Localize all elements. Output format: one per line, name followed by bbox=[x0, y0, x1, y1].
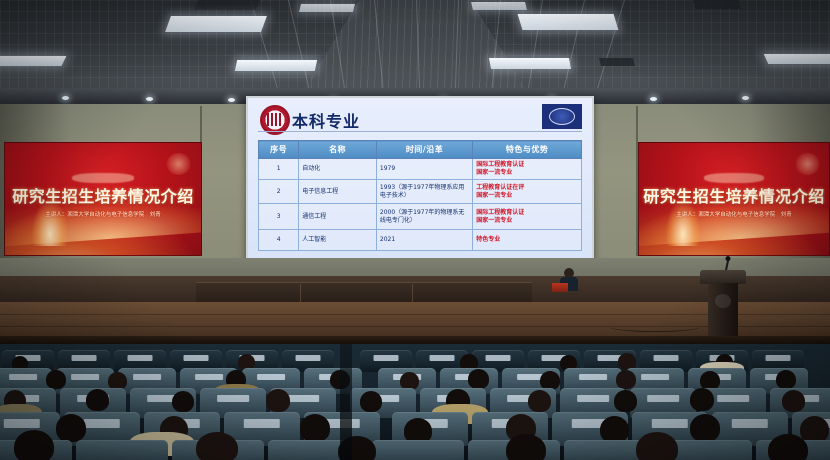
ceiling-light bbox=[489, 58, 571, 69]
majors-table: 序号 名称 时间/沿革 特色与优势 1 自动化 1979 国际工程教育认证 国家… bbox=[258, 140, 582, 251]
banner-right: 研究生招生培养情况介绍 主讲人：湘潭大学自动化与电子信息学院 刘青 bbox=[638, 142, 830, 256]
slide-title: 本科专业 bbox=[292, 108, 360, 132]
downlight bbox=[650, 97, 657, 101]
ceiling-vent bbox=[693, 0, 742, 9]
audience-head bbox=[636, 432, 678, 460]
audience-head bbox=[46, 370, 66, 389]
downlight bbox=[742, 96, 749, 100]
cell-history: 2021 bbox=[376, 230, 472, 251]
banner-left-subtitle: 主讲人：湘潭大学自动化与电子信息学院 刘青 bbox=[9, 210, 197, 218]
audience-head bbox=[600, 416, 629, 443]
audience-head bbox=[196, 432, 238, 460]
wooden-podium bbox=[700, 270, 746, 336]
cell-features: 工程教育认证在评 国家一流专业 bbox=[473, 180, 582, 204]
ceiling-vent bbox=[194, 0, 260, 10]
cell-name: 电子信息工程 bbox=[299, 180, 377, 204]
cell-history: 2000（源于1977年的物理系无线电专门化） bbox=[376, 204, 472, 230]
audience-head bbox=[800, 416, 829, 443]
ceiling-light bbox=[165, 16, 267, 32]
microphone-cable bbox=[610, 322, 700, 332]
banner-ribbon bbox=[72, 173, 135, 183]
table-row: 4 人工智能 2021 特色专业 bbox=[259, 230, 582, 251]
audience-head bbox=[616, 370, 636, 389]
audience-head bbox=[468, 369, 489, 389]
col-features: 特色与优势 bbox=[473, 141, 582, 159]
table-row: 3 通信工程 2000（源于1977年的物理系无线电专门化） 国际工程教育认证 … bbox=[259, 204, 582, 230]
audience-head bbox=[360, 391, 382, 412]
audience-head bbox=[690, 414, 720, 442]
audience-head bbox=[14, 430, 54, 460]
cell-features: 国际工程教育认证 国家一流专业 bbox=[473, 159, 582, 180]
col-no: 序号 bbox=[259, 141, 299, 159]
cell-features: 国际工程教育认证 国家一流专业 bbox=[473, 204, 582, 230]
banner-ribbon bbox=[704, 173, 765, 183]
cell-history: 1993（源于1977年物理系应用电子技术） bbox=[376, 180, 472, 204]
cell-history: 1979 bbox=[376, 159, 472, 180]
downlight bbox=[146, 97, 153, 101]
laptop bbox=[552, 283, 568, 292]
cell-no: 3 bbox=[259, 204, 299, 230]
ceiling-light bbox=[518, 14, 619, 30]
downlight bbox=[228, 98, 235, 102]
table-header-row: 序号 名称 时间/沿革 特色与优势 bbox=[259, 141, 582, 159]
banner-seal-icon bbox=[166, 153, 191, 175]
ceiling-light bbox=[764, 54, 830, 64]
audience-seating bbox=[0, 344, 830, 460]
ceiling-light bbox=[0, 56, 66, 66]
banner-seal-icon bbox=[795, 153, 820, 175]
ceiling-light bbox=[471, 2, 527, 10]
col-name: 名称 bbox=[299, 141, 377, 159]
audience-head bbox=[56, 414, 86, 442]
audience-head bbox=[768, 434, 808, 460]
lecture-hall-scene: 研究生招生培养情况介绍 主讲人：湘潭大学自动化与电子信息学院 刘青 研究生招生培… bbox=[0, 0, 830, 460]
audience-head bbox=[776, 370, 796, 389]
audience-head bbox=[528, 390, 551, 412]
cell-name: 人工智能 bbox=[299, 230, 377, 251]
podium-emblem-icon bbox=[715, 294, 731, 308]
audience-head bbox=[782, 390, 805, 412]
banner-right-title: 研究生招生培养情况介绍 bbox=[643, 183, 825, 207]
audience-head bbox=[172, 391, 194, 412]
podium-body bbox=[708, 283, 738, 336]
cell-no: 4 bbox=[259, 230, 299, 251]
cell-no: 2 bbox=[259, 180, 299, 204]
podium-top bbox=[700, 270, 746, 284]
audience-head bbox=[690, 388, 714, 411]
downlight bbox=[62, 96, 69, 100]
school-logo-icon bbox=[542, 104, 582, 129]
ceiling-vent bbox=[599, 58, 635, 66]
audience-head bbox=[266, 389, 290, 412]
cell-features: 特色专业 bbox=[473, 230, 582, 251]
audience-head bbox=[614, 390, 637, 412]
cell-no: 1 bbox=[259, 159, 299, 180]
ceiling-light bbox=[235, 60, 317, 71]
table-row: 2 电子信息工程 1993（源于1977年物理系应用电子技术） 工程教育认证在评… bbox=[259, 180, 582, 204]
ceiling bbox=[0, 0, 830, 104]
audience-head bbox=[506, 434, 546, 460]
banner-right-subtitle: 主讲人：湘潭大学自动化与电子信息学院 刘青 bbox=[643, 210, 825, 218]
slide-title-divider bbox=[258, 131, 582, 132]
banner-left-title: 研究生招生培养情况介绍 bbox=[9, 183, 197, 207]
audience-head bbox=[86, 389, 109, 411]
cell-name: 自动化 bbox=[299, 159, 377, 180]
cell-name: 通信工程 bbox=[299, 204, 377, 230]
seat bbox=[372, 440, 464, 460]
col-history: 时间/沿革 bbox=[376, 141, 472, 159]
aisle bbox=[340, 344, 352, 460]
presentation-slide: 本科专业 序号 名称 时间/沿革 特色与优势 1 自动化 1979 国际工程教育… bbox=[248, 98, 592, 278]
banner-left: 研究生招生培养情况介绍 主讲人：湘潭大学自动化与电子信息学院 刘青 bbox=[4, 142, 202, 256]
ceiling-light bbox=[299, 4, 355, 12]
audience-head bbox=[300, 414, 330, 442]
table-row: 1 自动化 1979 国际工程教育认证 国家一流专业 bbox=[259, 159, 582, 180]
seat bbox=[76, 440, 168, 460]
